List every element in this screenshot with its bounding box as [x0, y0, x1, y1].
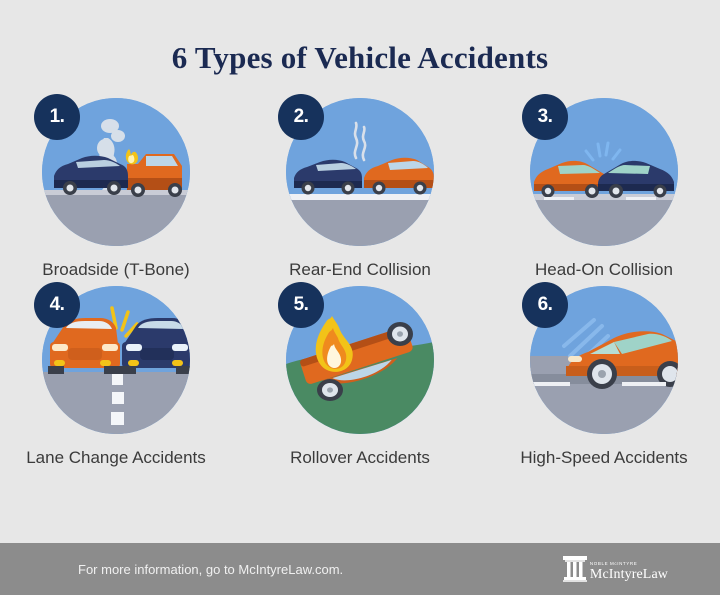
illustration-wrap-2: 2.	[286, 98, 434, 246]
accident-caption-5: Rollover Accidents	[290, 448, 430, 468]
page-title: 6 Types of Vehicle Accidents	[0, 0, 720, 76]
step-number-badge-3: 3.	[522, 94, 568, 140]
accident-caption-1: Broadside (T-Bone)	[42, 260, 189, 280]
accident-card-head-on[interactable]: 3. Head-On Collision	[496, 98, 712, 280]
accident-caption-3: Head-On Collision	[535, 260, 673, 280]
accident-caption-4: Lane Change Accidents	[26, 448, 206, 468]
accident-card-high-speed[interactable]: 6. High-Speed Accidents	[496, 286, 712, 468]
accident-row-top: 1. Broadside (T-Bone)	[0, 98, 720, 280]
illustration-wrap-1: 1.	[42, 98, 190, 246]
illustration-wrap-4: 4.	[42, 286, 190, 434]
accident-caption-2: Rear-End Collision	[289, 260, 431, 280]
accident-row-bottom: 4. Lane Change Accidents	[0, 286, 720, 468]
step-number-badge-1: 1.	[34, 94, 80, 140]
logo-name: McIntyreLaw	[590, 568, 668, 582]
logo-tagline: NOBLE McINTYRE	[590, 562, 668, 567]
footer-bar: For more information, go to McIntyreLaw.…	[0, 543, 720, 595]
footer-info-text: For more information, go to McIntyreLaw.…	[78, 562, 343, 577]
illustration-wrap-6: 6.	[530, 286, 678, 434]
pillar-icon	[563, 556, 587, 582]
step-number-badge-5: 5.	[278, 282, 324, 328]
step-number-badge-6: 6.	[522, 282, 568, 328]
accident-types-grid: 1. Broadside (T-Bone)	[0, 98, 720, 468]
step-number-badge-2: 2.	[278, 94, 324, 140]
step-number-badge-4: 4.	[34, 282, 80, 328]
logo-text-block: NOBLE McINTYRE McIntyreLaw	[590, 562, 668, 583]
mcintyre-law-logo[interactable]: NOBLE McINTYRE McIntyreLaw	[563, 556, 668, 582]
illustration-wrap-5: 5.	[286, 286, 434, 434]
illustration-wrap-3: 3.	[530, 98, 678, 246]
accident-caption-6: High-Speed Accidents	[520, 448, 687, 468]
accident-card-rollover[interactable]: 5. Rollover Accidents	[252, 286, 468, 468]
accident-card-broadside[interactable]: 1. Broadside (T-Bone)	[8, 98, 224, 280]
accident-card-lane-change[interactable]: 4. Lane Change Accidents	[8, 286, 224, 468]
accident-card-rear-end[interactable]: 2. Rear-End Collision	[252, 98, 468, 280]
